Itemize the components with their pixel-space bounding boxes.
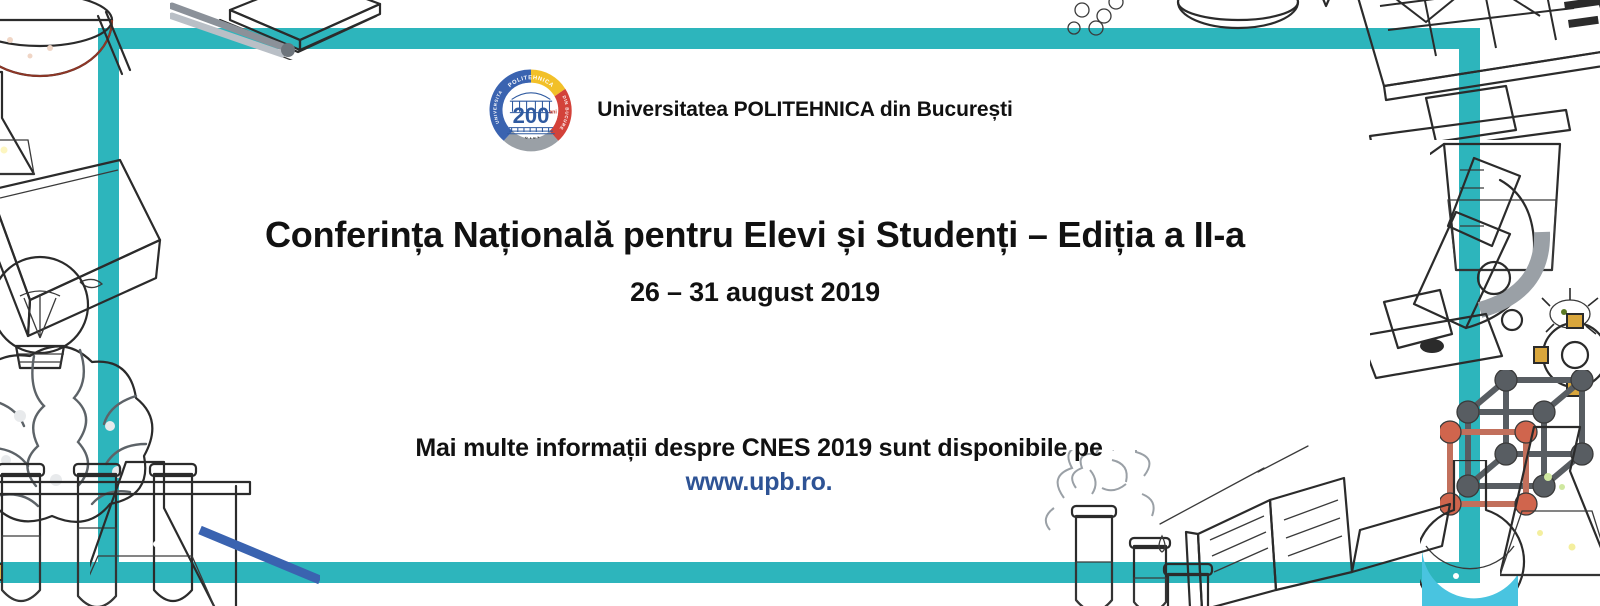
upb-200-anniversary-logo: POLITEHNICA UNIVERSITATEA DIN BUCUREŞTI … <box>487 66 575 154</box>
logo-anniversary-word: ani <box>549 110 557 116</box>
website-link[interactable]: www.upb.ro. <box>686 468 833 497</box>
conference-title: Conferința Națională pentru Elevi și Stu… <box>0 214 1510 255</box>
header-logo-row: POLITEHNICA UNIVERSITATEA DIN BUCUREŞTI … <box>0 66 1500 154</box>
logo-anniversary-number: 200 <box>513 103 550 128</box>
conference-poster: POLITEHNICA UNIVERSITATEA DIN BUCUREŞTI … <box>0 0 1600 606</box>
microbe-illustration <box>1540 280 1600 350</box>
title-block: Conferința Națională pentru Elevi și Stu… <box>0 214 1510 308</box>
info-text: Mai multe informații despre CNES 2019 su… <box>0 432 1518 466</box>
frame-border-bottom <box>0 562 1480 583</box>
conference-dates: 26 – 31 august 2019 <box>0 277 1510 308</box>
organization-name: Universitatea POLITEHNICA din București <box>597 98 1012 122</box>
frame-border-top <box>98 28 1480 49</box>
info-block: Mai multe informații despre CNES 2019 su… <box>0 432 1518 497</box>
right-gear-illustration <box>1530 310 1600 400</box>
